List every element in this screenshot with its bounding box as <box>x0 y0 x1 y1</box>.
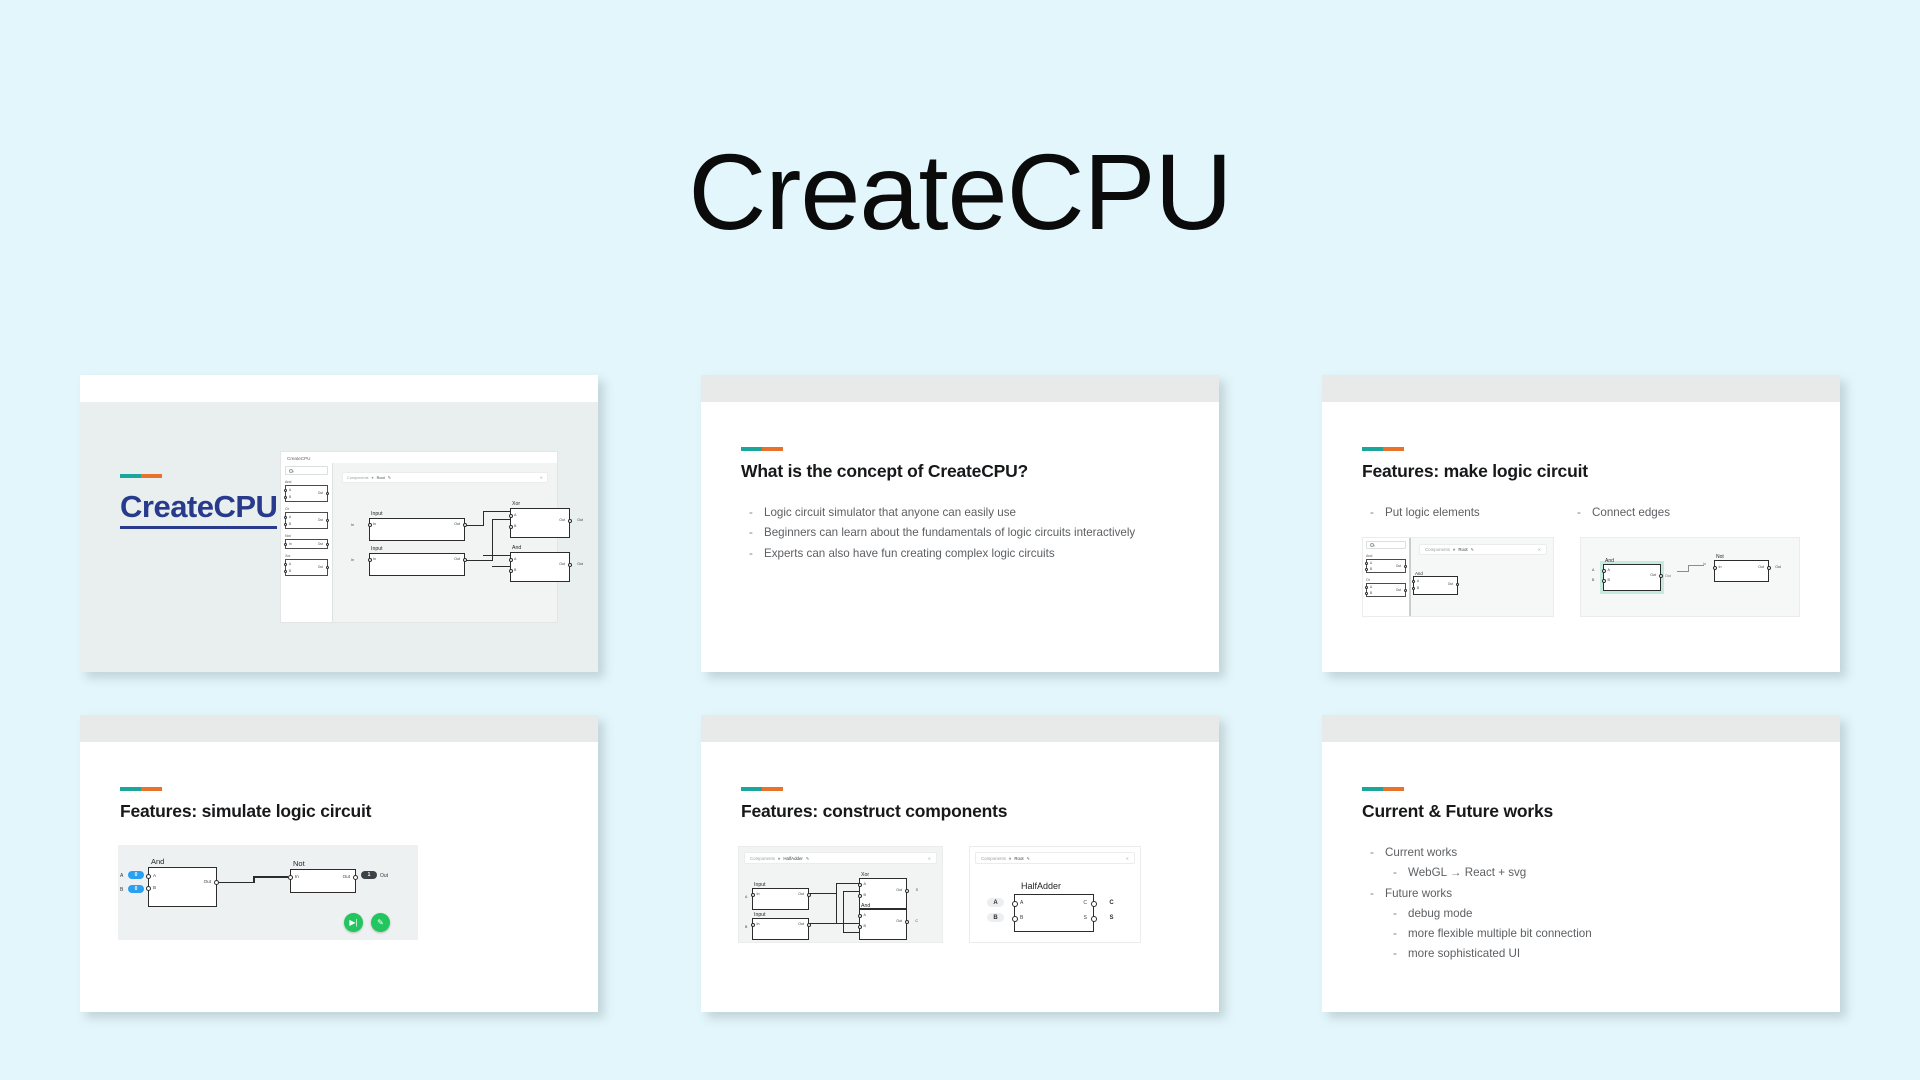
bullet-list: - Logic circuit simulator that anyone ca… <box>749 505 1169 566</box>
palette-item-and[interactable]: And A B Out <box>1366 554 1406 573</box>
port-b-label: B <box>1417 586 1419 590</box>
palette-item-label: Not <box>285 534 328 538</box>
breadcrumb-current: HalfAdder <box>783 856 803 861</box>
bullet-dash: - <box>749 525 764 540</box>
port-a[interactable] <box>146 874 151 879</box>
accent-teal-segment <box>741 447 762 451</box>
bullet-text: Current works <box>1385 845 1790 860</box>
slide-title: Features: make logic circuit <box>1362 461 1588 482</box>
gate-label: Not <box>1716 554 1724 560</box>
panel-root-component: Components » Root ✎ ✕ HalfAdder A B <box>969 846 1141 943</box>
canvas-gate-input-1[interactable]: Input In Out <box>752 888 809 910</box>
slide-topbar <box>1322 715 1840 742</box>
accent-orange-segment <box>1383 787 1404 791</box>
edge-target-label: In <box>1703 562 1706 566</box>
port-a[interactable] <box>1012 901 1018 907</box>
palette-item-or[interactable]: Or A B Out <box>285 507 328 529</box>
bullet-dash: - <box>1370 505 1385 520</box>
port-in-label: In <box>373 522 376 526</box>
bullet-text: more flexible multiple bit connection <box>1408 926 1790 941</box>
search-input[interactable] <box>1366 541 1406 549</box>
port-b-label: B <box>864 924 866 928</box>
port-a-label: A <box>289 562 291 566</box>
bullet-text: Logic circuit simulator that anyone can … <box>764 505 1169 520</box>
slide-card-title[interactable]: CreateCPU CreateCPU And <box>80 375 598 672</box>
sim-gate-and[interactable]: And A B Out <box>148 867 217 907</box>
port-in-label: In <box>757 892 760 896</box>
bullet-list-left: - Put logic elements <box>1370 505 1560 525</box>
gate-label: And <box>512 545 521 551</box>
breadcrumb-current: Root <box>1458 547 1467 552</box>
port-a[interactable] <box>1412 580 1415 583</box>
pencil-icon[interactable]: ✎ <box>1471 547 1474 552</box>
sim-gate-not[interactable]: Not In Out <box>290 869 356 893</box>
accent-bar <box>1362 447 1404 451</box>
port-in[interactable] <box>288 875 293 880</box>
external-output-label: C <box>915 919 918 923</box>
port-s[interactable] <box>1091 916 1097 922</box>
wire <box>836 883 860 884</box>
slide-card-current-future-works[interactable]: Current & Future works - Current works -… <box>1322 715 1840 1012</box>
page-title: CreateCPU <box>0 133 1920 252</box>
port-out-label: Out <box>559 518 565 522</box>
accent-bar <box>741 447 783 451</box>
wire <box>1688 565 1689 572</box>
port-b-label: B <box>864 893 866 897</box>
search-input[interactable] <box>285 466 328 475</box>
gate-label: Xor <box>512 501 520 507</box>
port-a-label: A <box>514 513 516 517</box>
port-b-label: B <box>289 495 291 499</box>
port-out-label: Out <box>318 491 323 495</box>
palette-gate-body: A B Out <box>285 512 328 529</box>
palette-gate-body: In Out <box>285 539 328 549</box>
wire <box>253 876 288 878</box>
palette-gate-body: A B Out <box>1366 583 1406 597</box>
accent-teal-segment <box>120 787 141 791</box>
port-b-label: B <box>153 885 156 890</box>
bullet-dash: - <box>1393 865 1408 880</box>
list-item: - debug mode <box>1393 906 1790 921</box>
bullet-dash: - <box>1370 845 1385 860</box>
app-screenshot: CreateCPU And A <box>280 451 558 623</box>
pencil-icon[interactable]: ✎ <box>371 913 390 932</box>
wire <box>465 560 493 561</box>
app-window-title: CreateCPU <box>281 452 557 461</box>
port-b <box>284 570 287 573</box>
bullet-text: Put logic elements <box>1385 505 1560 520</box>
close-icon[interactable]: ✕ <box>540 475 543 480</box>
bullet-list-right: - Connect edges <box>1577 505 1777 525</box>
port-c[interactable] <box>1091 901 1097 907</box>
accent-orange-segment <box>762 447 783 451</box>
slide-topbar <box>1322 375 1840 402</box>
slide-card-concept[interactable]: What is the concept of CreateCPU? - Logi… <box>701 375 1219 672</box>
chevron-right-icon: » <box>1453 547 1455 552</box>
gate-label: Not <box>293 859 305 868</box>
gate-label: Input <box>754 882 766 888</box>
port-out[interactable] <box>463 523 467 527</box>
port-out-label: Out <box>318 565 323 569</box>
port-out[interactable] <box>463 558 467 562</box>
external-input-label: In <box>351 523 354 527</box>
bullet-dash: - <box>1577 505 1592 520</box>
slide-row-1: CreateCPU CreateCPU And <box>80 375 1840 672</box>
wire <box>843 891 844 933</box>
accent-orange-segment <box>762 787 783 791</box>
port-b <box>284 496 287 499</box>
breadcrumb-root[interactable]: Components <box>1425 547 1450 552</box>
wire <box>836 893 837 923</box>
port-out[interactable] <box>568 563 572 567</box>
port-a-label: A <box>289 515 291 519</box>
close-icon[interactable]: ✕ <box>928 856 931 861</box>
port-a <box>284 516 287 519</box>
pencil-icon[interactable]: ✎ <box>388 475 391 480</box>
accent-teal-segment <box>120 474 141 478</box>
output-value-badge: 1 <box>361 871 377 879</box>
accent-bar <box>120 787 162 791</box>
external-input-label: A <box>1592 568 1594 572</box>
slide-overview-page: CreateCPU CreateCPU CreateCPU <box>0 0 1920 1080</box>
slide-card-construct-components[interactable]: Features: construct components Component… <box>701 715 1219 1012</box>
breadcrumb-current: Root <box>1014 856 1023 861</box>
list-item: - more flexible multiple bit connection <box>1393 926 1790 941</box>
bullet-text: Future works <box>1385 886 1790 901</box>
port-out[interactable] <box>353 875 358 880</box>
gate-label: Input <box>371 511 383 517</box>
breadcrumb-root[interactable]: Components <box>981 856 1006 861</box>
slide-topbar <box>701 375 1219 402</box>
accent-orange-segment <box>1383 447 1404 451</box>
port-out <box>326 566 329 569</box>
external-output-c[interactable]: C <box>1103 898 1120 907</box>
port-in <box>284 543 287 546</box>
wire <box>810 893 837 894</box>
port-b-label: B <box>1370 591 1372 595</box>
list-item: - Beginners can learn about the fundamen… <box>749 525 1169 540</box>
accent-bar <box>1362 787 1404 791</box>
circuit-canvas[interactable]: Components » Root ✎ ✕ <box>333 463 557 622</box>
port-in[interactable] <box>368 558 372 562</box>
port-out-label: Out <box>896 888 902 892</box>
bullet-text: Connect edges <box>1592 505 1777 520</box>
port-out <box>326 492 329 495</box>
external-input-label: B <box>745 925 747 929</box>
port-b-label: B <box>289 522 291 526</box>
list-item: - more sophisticated UI <box>1393 946 1790 961</box>
port-a[interactable] <box>509 514 513 518</box>
accent-orange-segment <box>141 474 162 478</box>
slide-body: Current & Future works - Current works -… <box>1322 742 1840 1012</box>
brand-lockup: CreateCPU <box>120 474 277 529</box>
port-b <box>284 523 287 526</box>
canvas-gate-input-1[interactable]: Input In Out <box>369 518 465 541</box>
port-out-label: Out <box>1448 582 1453 586</box>
port-b <box>1365 568 1368 571</box>
port-out-label: Out <box>1758 565 1764 569</box>
port-in-label: In <box>1719 565 1722 569</box>
gate-label: Input <box>754 912 766 918</box>
palette-item-label: And <box>285 480 328 484</box>
wire <box>810 923 844 924</box>
port-out-label: Out <box>798 922 804 926</box>
canvas-gate-and[interactable]: And A B Out A B <box>1603 564 1661 591</box>
edge-source-label: Out <box>1665 574 1671 578</box>
port-a-label: A <box>1417 579 1419 583</box>
wire <box>483 555 510 556</box>
port-b[interactable] <box>509 525 513 529</box>
bullet-dash: - <box>749 546 764 561</box>
port-a <box>284 563 287 566</box>
gate-label: Input <box>371 546 383 552</box>
port-b-label: B <box>1020 915 1023 921</box>
gate-label: And <box>1415 571 1423 576</box>
breadcrumb[interactable]: Components » HalfAdder ✎ ✕ <box>744 852 937 864</box>
port-out-label: Out <box>1396 588 1401 592</box>
port-out-label: Out <box>1650 573 1656 577</box>
canvas-gate-xor[interactable]: Xor A B Out Out <box>510 508 570 538</box>
accent-teal-segment <box>1362 787 1383 791</box>
accent-bar <box>741 787 783 791</box>
search-icon <box>1370 543 1374 547</box>
port-out-label: Out <box>1396 564 1401 568</box>
external-output-label: Out <box>1775 565 1781 569</box>
port-a[interactable] <box>509 558 513 562</box>
input-a-toggle[interactable]: 0 <box>128 871 144 879</box>
component-palette-sidebar: And A B Out <box>281 463 333 622</box>
port-a-label: A <box>514 557 516 561</box>
port-b[interactable] <box>1412 587 1415 590</box>
canvas-gate-and[interactable]: And A B Out C <box>859 909 907 940</box>
port-out <box>326 543 329 546</box>
port-in[interactable] <box>368 523 372 527</box>
port-out[interactable] <box>568 519 572 523</box>
port-b-label: B <box>514 524 516 528</box>
input-b-toggle[interactable]: 0 <box>128 885 144 893</box>
external-input-b[interactable]: B <box>987 913 1004 922</box>
port-in-label: In <box>757 922 760 926</box>
external-output-label: Out <box>577 562 583 566</box>
external-output-label: Out <box>577 518 583 522</box>
list-item: - Experts can also have fun creating com… <box>749 546 1169 561</box>
port-in[interactable] <box>751 923 755 927</box>
port-out[interactable] <box>905 920 909 924</box>
external-input-a[interactable]: A <box>987 898 1004 907</box>
palette-item-label: Or <box>285 507 328 511</box>
palette-item-label: And <box>1366 554 1406 558</box>
app-main-area: And A B Out <box>281 463 557 622</box>
slide-topbar <box>701 715 1219 742</box>
slide-card-make-logic-circuit[interactable]: Features: make logic circuit - Put logic… <box>1322 375 1840 672</box>
list-item: - Connect edges <box>1577 505 1777 520</box>
chevron-right-icon: » <box>1009 856 1011 861</box>
wire <box>219 882 254 884</box>
slide-body: What is the concept of CreateCPU? - Logi… <box>701 402 1219 672</box>
bullet-dash: - <box>1393 906 1408 921</box>
canvas-gate-not[interactable]: Not In Out Out <box>1714 560 1769 582</box>
list-item: - Future works <box>1370 886 1790 901</box>
port-a-label: A <box>1608 568 1610 572</box>
port-b[interactable] <box>146 886 151 891</box>
breadcrumb-current: Root <box>377 476 385 480</box>
palette-gate-body: A B Out <box>285 485 328 502</box>
port-a-label: A <box>864 913 866 917</box>
slide-row-2: Features: simulate logic circuit A 0 B 0… <box>80 715 1840 1012</box>
palette-item-xor[interactable]: Xor A B Out <box>285 554 328 576</box>
port-b-label: B <box>1608 578 1610 582</box>
slide-body: Features: construct components Component… <box>701 742 1219 1012</box>
port-out-label: Out <box>204 879 211 884</box>
port-a-label: A <box>864 882 866 886</box>
slide-topbar <box>80 715 598 742</box>
slide-title: Current & Future works <box>1362 801 1553 822</box>
screenshot-put-elements: And A B Out <box>1362 537 1554 617</box>
wire <box>483 511 484 526</box>
port-b <box>1365 592 1368 595</box>
wire <box>492 566 510 567</box>
canvas-gate-input-2[interactable]: Input In Out <box>752 918 809 940</box>
dragged-gate-and[interactable]: And A B Out <box>1413 576 1458 595</box>
bullet-dash: - <box>1393 946 1408 961</box>
port-a-label: A <box>289 488 291 492</box>
port-b[interactable] <box>509 569 513 573</box>
palette-item-label: Xor <box>285 554 328 558</box>
panel-halfadder-internals: Components » HalfAdder ✎ ✕ A B Input <box>738 846 943 943</box>
brand-logo-text: CreateCPU <box>120 489 277 529</box>
list-item: - Logic circuit simulator that anyone ca… <box>749 505 1169 520</box>
gate-label: And <box>861 903 870 909</box>
port-in[interactable] <box>1713 566 1717 570</box>
breadcrumb-root[interactable]: Components <box>347 476 369 480</box>
port-out-label: Out <box>454 557 460 561</box>
bullet-text: Experts can also have fun creating compl… <box>764 546 1169 561</box>
breadcrumb[interactable]: Components » Root ✎ ✕ <box>975 852 1135 864</box>
close-icon[interactable]: ✕ <box>1538 547 1541 552</box>
port-c-label: C <box>1083 900 1087 906</box>
bullet-text: debug mode <box>1408 906 1790 921</box>
port-in[interactable] <box>751 893 755 897</box>
breadcrumb-root[interactable]: Components <box>750 856 775 861</box>
port-b-label: B <box>289 569 291 573</box>
close-icon[interactable]: ✕ <box>1126 856 1129 861</box>
breadcrumb[interactable]: Components » Root ✎ ✕ <box>342 472 548 483</box>
port-out-label: Out <box>798 892 804 896</box>
wire <box>1688 565 1704 566</box>
port-out[interactable] <box>905 889 909 893</box>
list-item: - WebGL → React + svg <box>1393 865 1790 880</box>
port-b[interactable] <box>1602 579 1606 583</box>
wire <box>843 891 860 892</box>
port-out-label: Out <box>896 919 902 923</box>
port-a-label: A <box>1020 900 1023 906</box>
palette-item-or[interactable]: Or A B Out <box>1366 578 1406 597</box>
palette-gate-body: A B Out <box>1366 559 1406 573</box>
chevron-right-icon: » <box>372 476 374 480</box>
port-a[interactable] <box>858 914 862 918</box>
port-b-label: B <box>1370 567 1372 571</box>
list-item: - Put logic elements <box>1370 505 1560 520</box>
slide-title: What is the concept of CreateCPU? <box>741 461 1028 482</box>
port-in-label: In <box>295 874 299 879</box>
port-out <box>1404 589 1407 592</box>
port-out-label: Out <box>559 562 565 566</box>
input-a-label: A <box>120 873 123 879</box>
external-output-s[interactable]: S <box>1103 913 1120 922</box>
external-input-label: A <box>745 895 747 899</box>
wire <box>483 511 510 512</box>
port-out-label: Out <box>343 874 350 879</box>
port-a-label: A <box>1370 585 1372 589</box>
port-b[interactable] <box>858 894 862 898</box>
palette-item-and[interactable]: And A B Out <box>285 480 328 502</box>
port-out-label: Out <box>454 522 460 526</box>
gate-label: And <box>1605 558 1614 564</box>
simulation-canvas[interactable]: A 0 B 0 And A B Out <box>118 845 418 940</box>
accent-teal-segment <box>1362 447 1383 451</box>
step-forward-icon[interactable]: ▶| <box>344 913 363 932</box>
port-in-label: In <box>289 542 292 546</box>
bullet-text: WebGL → React + svg <box>1408 865 1790 880</box>
port-b-label: B <box>514 568 516 572</box>
palette-sidebar: And A B Out <box>1363 538 1411 616</box>
bullet-dash: - <box>1393 926 1408 941</box>
port-out[interactable] <box>1456 583 1459 586</box>
pencil-icon[interactable]: ✎ <box>806 856 809 861</box>
output-label: Out <box>380 873 388 879</box>
chevron-right-icon: » <box>778 856 780 861</box>
external-output-label: S <box>916 888 918 892</box>
palette-gate-body: A B Out <box>285 559 328 576</box>
port-out[interactable] <box>1659 574 1663 578</box>
port-out-label: Out <box>318 542 323 546</box>
breadcrumb[interactable]: Components » Root ✎ ✕ <box>1419 544 1547 555</box>
slide-topbar <box>80 375 598 402</box>
port-out[interactable] <box>1767 566 1771 570</box>
slide-title: Features: simulate logic circuit <box>120 801 371 822</box>
port-a <box>284 489 287 492</box>
accent-bar <box>120 474 162 478</box>
pencil-icon[interactable]: ✎ <box>1027 856 1030 861</box>
canvas-component-halfadder[interactable]: HalfAdder A B C S <box>1014 894 1094 932</box>
bullet-text: more sophisticated UI <box>1408 946 1790 961</box>
port-in-label: In <box>373 557 376 561</box>
gate-label: And <box>151 857 164 866</box>
canvas-gate-and[interactable]: And A B Out Out <box>510 552 570 582</box>
palette-item-not[interactable]: Not In Out <box>285 534 328 549</box>
list-item: - Current works <box>1370 845 1790 860</box>
slide-card-simulate[interactable]: Features: simulate logic circuit A 0 B 0… <box>80 715 598 1012</box>
port-s-label: S <box>1084 915 1087 921</box>
external-input-label: In <box>351 558 354 562</box>
slide-body: Features: make logic circuit - Put logic… <box>1322 402 1840 672</box>
screenshot-connect-edges: And A B Out A B Out <box>1580 537 1800 617</box>
slide-title: Features: construct components <box>741 801 1007 822</box>
input-b-label: B <box>120 887 123 893</box>
port-a[interactable] <box>1602 569 1606 573</box>
port-a[interactable] <box>858 883 862 887</box>
slide-body: Features: simulate logic circuit A 0 B 0… <box>80 742 598 1012</box>
port-b[interactable] <box>1012 916 1018 922</box>
canvas-gate-input-2[interactable]: Input In Out <box>369 553 465 576</box>
port-b[interactable] <box>858 925 862 929</box>
bullet-list: - Current works - WebGL → React + svg - … <box>1370 845 1790 967</box>
port-a-label: A <box>153 873 156 878</box>
slide-grid: CreateCPU CreateCPU And <box>80 375 1840 1055</box>
slide-body: CreateCPU CreateCPU And <box>80 402 598 672</box>
component-label: HalfAdder <box>1021 881 1061 891</box>
port-out <box>1404 565 1407 568</box>
